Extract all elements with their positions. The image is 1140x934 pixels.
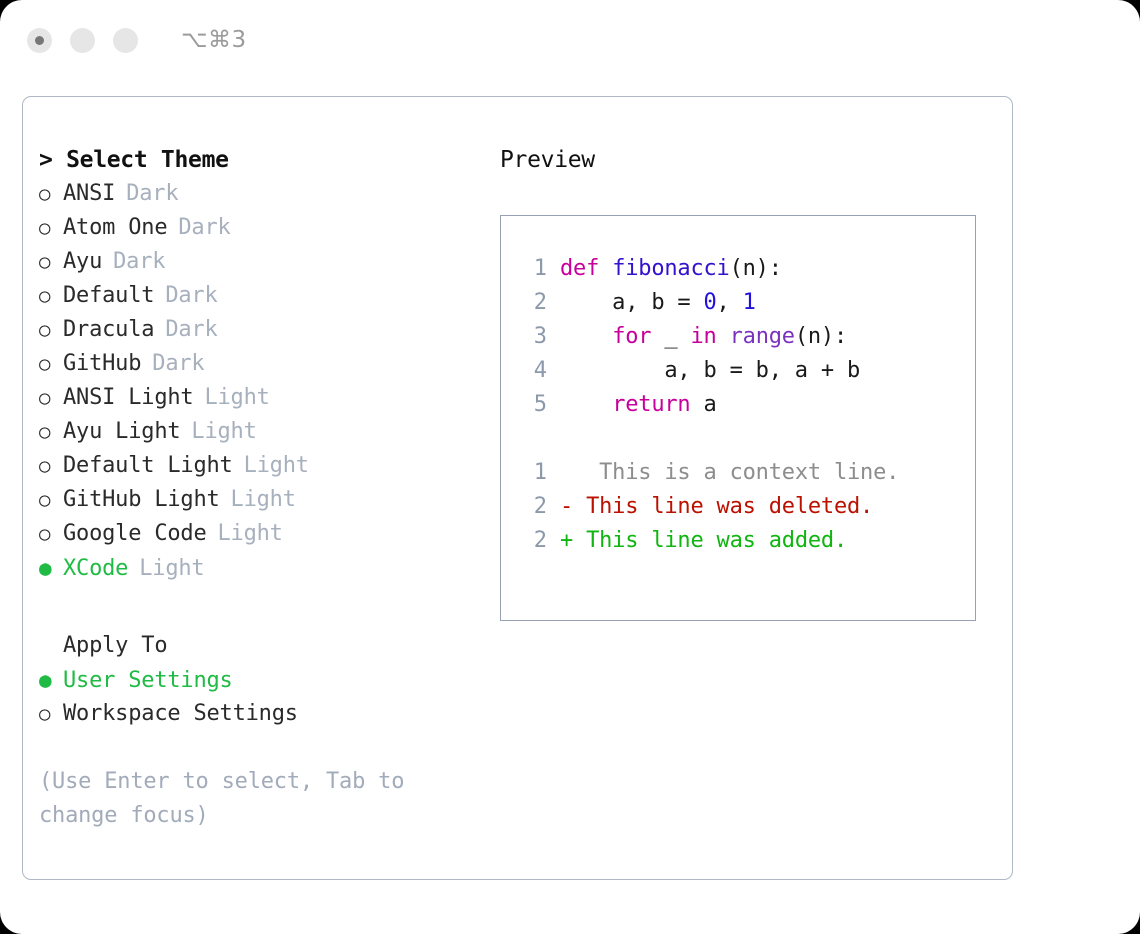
radio-selected-icon: ●: [39, 551, 63, 585]
code-token-kw: for: [612, 324, 651, 349]
code-token-txt: [560, 324, 612, 349]
code-line: 5 return a: [517, 388, 975, 422]
diff-sign: [560, 456, 573, 490]
theme-option-label: Google Code: [63, 517, 207, 551]
code-line: 4 a, b = b, a + b: [517, 354, 975, 388]
theme-option-row[interactable]: ○Default LightLight: [39, 449, 489, 483]
apply-to-option-row[interactable]: ●User Settings: [39, 663, 489, 697]
theme-option-variant-tag: Light: [204, 381, 269, 415]
theme-option-row[interactable]: ○Atom OneDark: [39, 211, 489, 245]
radio-unselected-icon: ○: [39, 415, 63, 449]
line-number: 5: [517, 388, 547, 422]
theme-option-label: Atom One: [63, 211, 167, 245]
keyboard-hint-text: (Use Enter to select, Tab to change focu…: [39, 765, 439, 833]
code-token-kw: in: [690, 324, 716, 349]
main-panel: > Select Theme ○ANSIDark○Atom OneDark○Ay…: [22, 96, 1013, 880]
code-line: 3 for _ in range(n):: [517, 320, 975, 354]
code-token-txt: (n):: [730, 256, 782, 281]
code-token-txt: a, b = b, a + b: [560, 358, 860, 383]
record-dot-inner-icon: [35, 36, 44, 45]
radio-unselected-icon: ○: [39, 347, 63, 381]
code-sample: 1def fibonacci(n):2 a, b = 0, 13 for _ i…: [517, 252, 975, 422]
diff-line-text: This is a context line.: [573, 456, 899, 490]
preview-box: 1def fibonacci(n):2 a, b = 0, 13 for _ i…: [500, 215, 976, 621]
theme-option-label: ANSI: [63, 177, 115, 211]
select-theme-header: > Select Theme: [39, 143, 489, 177]
theme-option-variant-tag: Light: [139, 552, 204, 586]
radio-unselected-icon: ○: [39, 211, 63, 245]
theme-list: ○ANSIDark○Atom OneDark○AyuDark○DefaultDa…: [39, 177, 489, 585]
code-diff-spacer: [517, 422, 975, 456]
theme-option-row[interactable]: ○GitHubDark: [39, 347, 489, 381]
radio-unselected-icon: ○: [39, 697, 63, 731]
apply-to-list: ●User Settings○Workspace Settings: [39, 663, 489, 731]
code-token-txt: _: [651, 324, 690, 349]
diff-sign: +: [560, 524, 573, 558]
theme-option-label: Ayu: [63, 245, 102, 279]
line-number: 1: [517, 456, 547, 490]
code-token-txt: [560, 392, 612, 417]
theme-option-variant-tag: Dark: [152, 347, 204, 381]
line-number: 2: [517, 524, 547, 558]
theme-option-variant-tag: Light: [218, 517, 283, 551]
theme-option-label: GitHub: [63, 347, 141, 381]
theme-option-variant-tag: Light: [191, 415, 256, 449]
code-line-text: def fibonacci(n):: [560, 252, 782, 286]
code-line: 2 a, b = 0, 1: [517, 286, 975, 320]
radio-unselected-icon: ○: [39, 449, 63, 483]
theme-option-row[interactable]: ○ANSIDark: [39, 177, 489, 211]
theme-option-label: GitHub Light: [63, 483, 220, 517]
code-line-text: a, b = 0, 1: [560, 286, 756, 320]
preview-column: Preview 1def fibonacci(n):2 a, b = 0, 13…: [500, 143, 990, 621]
code-token-txt: (n):: [795, 324, 847, 349]
diff-sign: -: [560, 490, 573, 524]
window-dot-2-icon[interactable]: [70, 28, 95, 53]
window-controls: [27, 28, 138, 53]
theme-option-row[interactable]: ○Ayu LightLight: [39, 415, 489, 449]
theme-option-row[interactable]: ○DraculaDark: [39, 313, 489, 347]
radio-unselected-icon: ○: [39, 177, 63, 211]
radio-unselected-icon: ○: [39, 381, 63, 415]
theme-option-label: ANSI Light: [63, 381, 193, 415]
code-token-kw: def: [560, 256, 599, 281]
apply-to-option-label: Workspace Settings: [63, 697, 298, 731]
code-token-num: 1: [743, 290, 756, 315]
line-number: 2: [517, 286, 547, 320]
line-number: 2: [517, 490, 547, 524]
theme-option-row[interactable]: ○DefaultDark: [39, 279, 489, 313]
code-token-call: range: [730, 324, 795, 349]
theme-option-label: XCode: [63, 552, 128, 586]
keyboard-shortcut-label: ⌥⌘3: [181, 27, 247, 53]
theme-option-variant-tag: Light: [231, 483, 296, 517]
diff-sample: 1 This is a context line.2- This line wa…: [517, 456, 975, 558]
apply-to-label: Apply To: [39, 629, 489, 663]
code-token-fn: fibonacci: [612, 256, 729, 281]
theme-option-variant-tag: Dark: [165, 313, 217, 347]
theme-option-variant-tag: Dark: [126, 177, 178, 211]
code-line-text: a, b = b, a + b: [560, 354, 860, 388]
code-token-num: 0: [704, 290, 717, 315]
code-line: 1def fibonacci(n):: [517, 252, 975, 286]
theme-option-label: Ayu Light: [63, 415, 180, 449]
theme-option-row[interactable]: ●XCodeLight: [39, 551, 489, 585]
theme-option-label: Default: [63, 279, 154, 313]
code-token-kw: return: [612, 392, 690, 417]
code-token-txt: a, b =: [560, 290, 704, 315]
theme-option-label: Default Light: [63, 449, 233, 483]
diff-line: 2- This line was deleted.: [517, 490, 975, 524]
line-number: 3: [517, 320, 547, 354]
record-dot-icon[interactable]: [27, 28, 52, 53]
theme-option-row[interactable]: ○ANSI LightLight: [39, 381, 489, 415]
theme-option-variant-tag: Dark: [113, 245, 165, 279]
radio-selected-icon: ●: [39, 663, 63, 697]
code-token-txt: [599, 256, 612, 281]
radio-unselected-icon: ○: [39, 245, 63, 279]
code-line-text: for _ in range(n):: [560, 320, 847, 354]
code-token-txt: ,: [717, 290, 743, 315]
theme-option-row[interactable]: ○AyuDark: [39, 245, 489, 279]
apply-to-option-label: User Settings: [63, 664, 233, 698]
radio-unselected-icon: ○: [39, 483, 63, 517]
code-token-txt: a: [690, 392, 716, 417]
line-number: 4: [517, 354, 547, 388]
window-dot-3-icon[interactable]: [113, 28, 138, 53]
theme-option-variant-tag: Light: [244, 449, 309, 483]
theme-option-row[interactable]: ○Google CodeLight: [39, 517, 489, 551]
radio-unselected-icon: ○: [39, 313, 63, 347]
code-token-txt: [717, 324, 730, 349]
diff-line: 1 This is a context line.: [517, 456, 975, 490]
title-bar: ⌥⌘3: [0, 0, 1140, 80]
app-window: ⌥⌘3 > Select Theme ○ANSIDark○Atom OneDar…: [0, 0, 1140, 934]
apply-to-option-row[interactable]: ○Workspace Settings: [39, 697, 489, 731]
radio-unselected-icon: ○: [39, 279, 63, 313]
theme-option-variant-tag: Dark: [165, 279, 217, 313]
theme-option-variant-tag: Dark: [178, 211, 230, 245]
line-number: 1: [517, 252, 547, 286]
code-line-text: return a: [560, 388, 717, 422]
diff-line: 2+ This line was added.: [517, 524, 975, 558]
radio-unselected-icon: ○: [39, 517, 63, 551]
theme-picker-column: > Select Theme ○ANSIDark○Atom OneDark○Ay…: [39, 143, 489, 833]
theme-option-row[interactable]: ○GitHub LightLight: [39, 483, 489, 517]
theme-option-label: Dracula: [63, 313, 154, 347]
apply-to-section: Apply To ●User Settings○Workspace Settin…: [39, 629, 489, 731]
diff-line-text: This line was deleted.: [573, 490, 873, 524]
diff-line-text: This line was added.: [573, 524, 847, 558]
preview-header: Preview: [500, 143, 990, 177]
